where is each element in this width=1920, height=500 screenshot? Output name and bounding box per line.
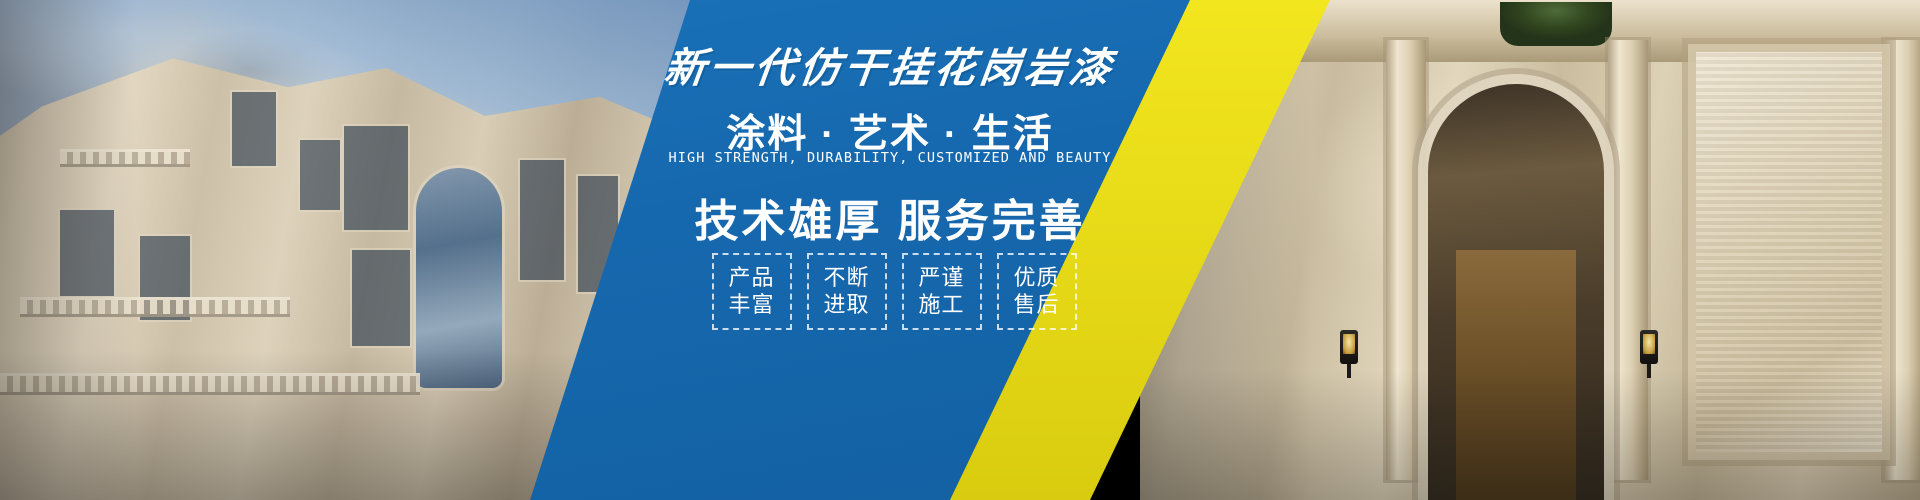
feature-box: 不断 进取 (807, 253, 887, 330)
feature-line-2: 丰富 (728, 292, 774, 319)
banner-headline: 新一代仿干挂花岗岩漆 (606, 34, 1173, 94)
feature-box: 产品 丰富 (712, 253, 792, 330)
promo-banner: 新一代仿干挂花岗岩漆 涂料 · 艺术 · 生活 HIGH STRENGTH, D… (0, 0, 1920, 500)
feature-line-1: 严谨 (918, 265, 964, 292)
feature-line-1: 不断 (823, 265, 869, 292)
banner-english-tagline: HIGH STRENGTH, DURABILITY, CUSTOMIZED AN… (610, 150, 1170, 166)
feature-line-2: 施工 (918, 292, 964, 319)
feature-box: 严谨 施工 (902, 253, 982, 330)
feature-line-2: 进取 (823, 292, 869, 319)
banner-content: 新一代仿干挂花岗岩漆 涂料 · 艺术 · 生活 HIGH STRENGTH, D… (610, 0, 1170, 500)
feature-box: 优质 售后 (997, 253, 1077, 330)
feature-line-1: 产品 (728, 265, 774, 292)
feature-box-list: 产品 丰富 不断 进取 严谨 施工 优质 售后 (624, 253, 1164, 330)
feature-line-2: 售后 (1013, 292, 1059, 319)
banner-secondary-heading: 技术雄厚 服务完善 (610, 185, 1170, 249)
feature-line-1: 优质 (1013, 265, 1059, 292)
